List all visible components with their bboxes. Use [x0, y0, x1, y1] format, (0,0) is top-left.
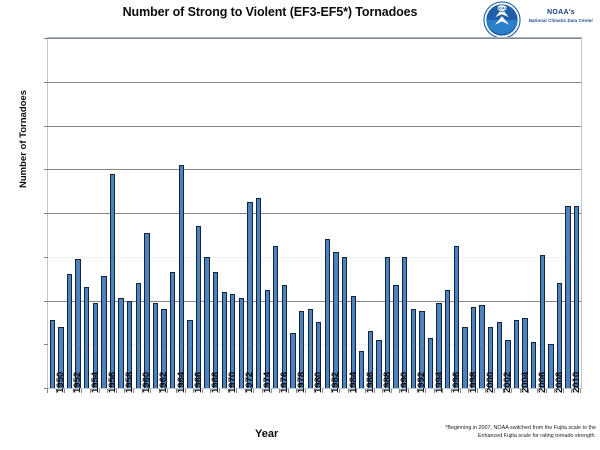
bar[interactable]	[290, 333, 295, 388]
bar[interactable]	[110, 174, 115, 388]
bar[interactable]	[540, 255, 545, 388]
bar-slot	[91, 38, 100, 388]
bar-slot	[194, 38, 203, 388]
noaa-logo: NOAA NOAA's National Climatic Data Cente…	[483, 1, 598, 41]
x-axis-title: Year	[255, 428, 278, 440]
bar-slot	[366, 38, 375, 388]
bar-slot	[306, 38, 315, 388]
bar[interactable]	[325, 239, 330, 388]
x-axis-label-1978: 1978	[296, 372, 307, 393]
bar[interactable]	[247, 202, 252, 388]
bar[interactable]	[144, 233, 149, 388]
bar[interactable]	[548, 344, 553, 388]
bar[interactable]	[462, 327, 467, 388]
bar-slot	[418, 38, 427, 388]
x-axis-label-1956: 1956	[107, 372, 118, 393]
bar-slot	[495, 38, 504, 388]
bar-slot	[48, 38, 57, 388]
x-axis-label-1972: 1972	[244, 372, 255, 393]
bar-slot	[486, 38, 495, 388]
chart-title: Number of Strong to Violent (EF3-EF5*) T…	[60, 5, 480, 19]
bar[interactable]	[256, 198, 261, 388]
x-axis-label-1988: 1988	[382, 372, 393, 393]
tornado-bar-chart: Number of Strong to Violent (EF3-EF5*) T…	[0, 0, 600, 450]
bar[interactable]	[273, 246, 278, 388]
bar-slot	[435, 38, 444, 388]
x-axis-label-1984: 1984	[348, 372, 359, 393]
x-axis-label-1982: 1982	[330, 372, 341, 393]
bar-slot	[237, 38, 246, 388]
y-axis-title: Number of Tornadoes	[18, 90, 29, 188]
x-axis-label-1996: 1996	[451, 372, 462, 393]
bar-slot	[340, 38, 349, 388]
bar-series	[48, 38, 581, 388]
bar[interactable]	[333, 252, 338, 388]
x-axis-label-1990: 1990	[399, 372, 410, 393]
bar[interactable]	[393, 285, 398, 388]
x-axis-label-1994: 1994	[434, 372, 445, 393]
bar[interactable]	[402, 257, 407, 388]
bar[interactable]	[204, 257, 209, 388]
bar-slot	[564, 38, 573, 388]
bar[interactable]	[514, 320, 519, 388]
bar-slot	[538, 38, 547, 388]
x-axis-label-2008: 2008	[554, 372, 565, 393]
bar-slot	[297, 38, 306, 388]
bar-slot	[151, 38, 160, 388]
x-axis-label-1980: 1980	[313, 372, 324, 393]
bar-slot	[229, 38, 238, 388]
bar-slot	[512, 38, 521, 388]
footnote-line-2: Enhanced Fujita scale for rating tornado…	[478, 433, 596, 439]
x-axis-label-2000: 2000	[485, 372, 496, 393]
bar-slot	[547, 38, 556, 388]
bar[interactable]	[84, 287, 89, 388]
bar-slot	[409, 38, 418, 388]
bar-slot	[383, 38, 392, 388]
bar-slot	[555, 38, 564, 388]
x-axis-label-1992: 1992	[416, 372, 427, 393]
bar-slot	[246, 38, 255, 388]
bar-slot	[332, 38, 341, 388]
bar-slot	[392, 38, 401, 388]
x-axis-label-1954: 1954	[90, 372, 101, 393]
x-axis-label-2004: 2004	[520, 372, 531, 393]
bar-slot	[323, 38, 332, 388]
bar-slot	[57, 38, 66, 388]
bar-slot	[469, 38, 478, 388]
bar-slot	[100, 38, 109, 388]
bar[interactable]	[196, 226, 201, 388]
bar-slot	[504, 38, 513, 388]
bar[interactable]	[454, 246, 459, 388]
bar-slot	[375, 38, 384, 388]
bar-slot	[211, 38, 220, 388]
bar[interactable]	[445, 290, 450, 388]
bar[interactable]	[187, 320, 192, 388]
bar-slot	[280, 38, 289, 388]
bar-slot	[289, 38, 298, 388]
bar[interactable]	[179, 165, 184, 388]
x-axis-label-2002: 2002	[502, 372, 513, 393]
bar-slot	[117, 38, 126, 388]
x-axis-label-2006: 2006	[537, 372, 548, 393]
bar-slot	[254, 38, 263, 388]
bar-slot	[125, 38, 134, 388]
bar-slot	[65, 38, 74, 388]
bar[interactable]	[479, 305, 484, 388]
x-axis-label-1976: 1976	[279, 372, 290, 393]
x-axis-label-1998: 1998	[468, 372, 479, 393]
bar[interactable]	[342, 257, 347, 388]
x-axis-label-1960: 1960	[141, 372, 152, 393]
bar-slot	[443, 38, 452, 388]
x-axis-label-1974: 1974	[262, 372, 273, 393]
bar[interactable]	[531, 342, 536, 388]
x-axis-label-1964: 1964	[176, 372, 187, 393]
bar-slot	[572, 38, 581, 388]
bar-slot	[426, 38, 435, 388]
noaa-seal-icon: NOAA	[483, 1, 521, 39]
bar-slot	[74, 38, 83, 388]
bar[interactable]	[170, 272, 175, 388]
bar[interactable]	[213, 272, 218, 388]
bar-slot	[186, 38, 195, 388]
x-axis-label-1970: 1970	[227, 372, 238, 393]
bar-slot	[452, 38, 461, 388]
bar[interactable]	[75, 259, 80, 388]
bar-slot	[349, 38, 358, 388]
bar[interactable]	[385, 257, 390, 388]
plot-area: Number of Tornadoes 02040608010012014016…	[47, 37, 582, 389]
bar-slot	[357, 38, 366, 388]
bar[interactable]	[565, 206, 570, 388]
bar-slot	[143, 38, 152, 388]
bar-slot	[529, 38, 538, 388]
bar-slot	[82, 38, 91, 388]
bar[interactable]	[101, 276, 106, 388]
svg-text:NOAA: NOAA	[497, 7, 508, 11]
bar-slot	[177, 38, 186, 388]
bar-slot	[521, 38, 530, 388]
bar-slot	[220, 38, 229, 388]
bar-slot	[108, 38, 117, 388]
bar[interactable]	[574, 206, 579, 388]
x-axis-label-1962: 1962	[158, 372, 169, 393]
bar[interactable]	[118, 298, 123, 388]
bar-slot	[168, 38, 177, 388]
bar-slot	[400, 38, 409, 388]
bar-slot	[263, 38, 272, 388]
bar-slot	[203, 38, 212, 388]
bar-slot	[272, 38, 281, 388]
logo-title: NOAA's	[525, 9, 597, 17]
bar[interactable]	[376, 340, 381, 388]
x-axis-label-2010: 2010	[571, 372, 582, 393]
bar-slot	[478, 38, 487, 388]
logo-subtitle: National Climatic Data Center	[525, 18, 597, 24]
x-axis-label-1958: 1958	[124, 372, 135, 393]
bar[interactable]	[428, 338, 433, 388]
x-axis-label-1952: 1952	[72, 372, 83, 393]
bar-slot	[461, 38, 470, 388]
chart-footnote: *Beginning in 2007, NOAA switched from t…	[386, 425, 596, 440]
x-axis-label-1968: 1968	[210, 372, 221, 393]
bar-slot	[134, 38, 143, 388]
x-axis-label-1986: 1986	[365, 372, 376, 393]
x-axis-label-1950: 1950	[55, 372, 66, 393]
x-axis-label-1966: 1966	[193, 372, 204, 393]
bar-slot	[160, 38, 169, 388]
bar[interactable]	[359, 351, 364, 388]
footnote-line-1: *Beginning in 2007, NOAA switched from t…	[445, 425, 596, 431]
bar-slot	[315, 38, 324, 388]
